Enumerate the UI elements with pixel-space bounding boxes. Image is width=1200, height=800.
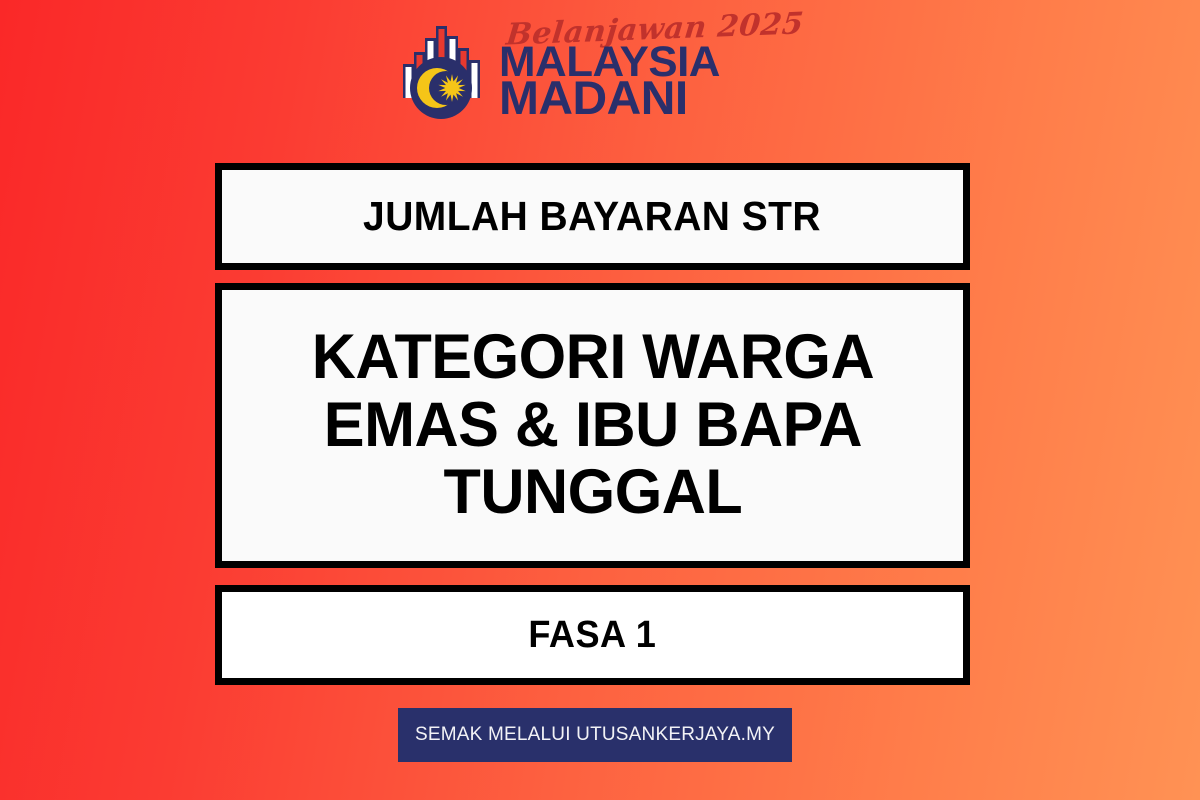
main-category-text: KATEGORI WARGA EMAS & IBU BAPA TUNGGAL [296, 324, 889, 526]
main-category-line-2: EMAS & IBU BAPA [311, 392, 873, 459]
poster-canvas: Belanjawan 2025 MALAYSIA MADANI JUMLAH B… [0, 0, 1200, 800]
main-category-box: KATEGORI WARGA EMAS & IBU BAPA TUNGGAL [215, 283, 970, 568]
main-category-line-3: TUNGGAL [311, 459, 873, 526]
phase-text: FASA 1 [529, 616, 657, 654]
logo-word-madani: MADANI [499, 78, 688, 118]
title-text: JUMLAH BAYARAN STR [364, 196, 822, 237]
main-category-line-1: KATEGORI WARGA [311, 324, 873, 391]
title-box: JUMLAH BAYARAN STR [215, 163, 970, 270]
malaysia-madani-logo: Belanjawan 2025 MALAYSIA MADANI [0, 14, 1200, 122]
malaysia-madani-logo-icon [397, 14, 489, 122]
check-source-bar[interactable]: SEMAK MELALUI UTUSANKERJAYA.MY [398, 708, 792, 762]
logo-wordmark: Belanjawan 2025 MALAYSIA MADANI [499, 17, 803, 122]
phase-box: FASA 1 [215, 585, 970, 685]
check-source-text: SEMAK MELALUI UTUSANKERJAYA.MY [415, 724, 775, 746]
